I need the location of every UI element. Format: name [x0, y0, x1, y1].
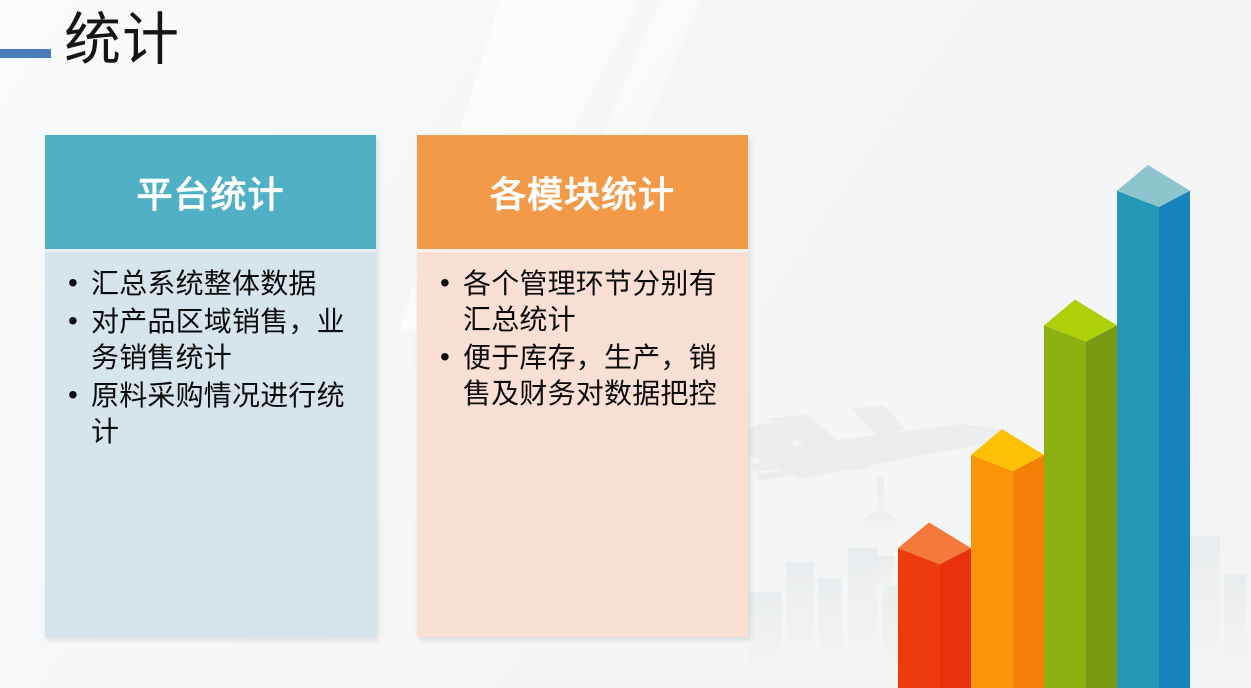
card-platform-statistics[interactable]: 平台统计 汇总系统整体数据 对产品区域销售，业务销售统计 原料采购情况进行统计 [45, 135, 376, 637]
bar-column-4 [1117, 165, 1190, 688]
bar-front-face [1044, 325, 1086, 688]
bar-side-face [1086, 325, 1117, 688]
card-module-statistics[interactable]: 各模块统计 各个管理环节分别有汇总统计 便于库存，生产，销售及财务对数据把控 [417, 135, 748, 637]
bar-side-face [1013, 455, 1044, 688]
bar-side-face [940, 548, 971, 688]
bar-front-face [971, 455, 1013, 688]
bar-front-face [1117, 191, 1159, 688]
list-item: 便于库存，生产，销售及财务对数据把控 [437, 340, 732, 412]
card-platform-body: 汇总系统整体数据 对产品区域销售，业务销售统计 原料采购情况进行统计 [45, 249, 376, 637]
card-modules-header: 各模块统计 [417, 135, 748, 249]
list-item: 原料采购情况进行统计 [65, 378, 360, 450]
bar-column-2 [971, 429, 1044, 688]
title-accent-rule [0, 49, 51, 58]
card-modules-bullet-list: 各个管理环节分别有汇总统计 便于库存，生产，销售及财务对数据把控 [437, 266, 732, 412]
bar-front-face [898, 548, 940, 688]
card-modules-body: 各个管理环节分别有汇总统计 便于库存，生产，销售及财务对数据把控 [417, 249, 748, 637]
bar-side-face [1159, 191, 1190, 688]
slide-canvas: 统计 平台统计 汇总系统整体数据 对产品区域销售，业务销售统计 原料采购情况进行… [0, 0, 1251, 688]
list-item: 对产品区域销售，业务销售统计 [65, 304, 360, 376]
card-platform-header: 平台统计 [45, 135, 376, 249]
bar-column-3 [1044, 300, 1117, 688]
bar-chart-3d [880, 140, 1251, 688]
card-platform-bullet-list: 汇总系统整体数据 对产品区域销售，业务销售统计 原料采购情况进行统计 [65, 266, 360, 450]
page-title: 统计 [64, 6, 180, 74]
list-item: 各个管理环节分别有汇总统计 [437, 266, 732, 338]
bar-column-1 [898, 522, 971, 688]
list-item: 汇总系统整体数据 [65, 266, 360, 302]
